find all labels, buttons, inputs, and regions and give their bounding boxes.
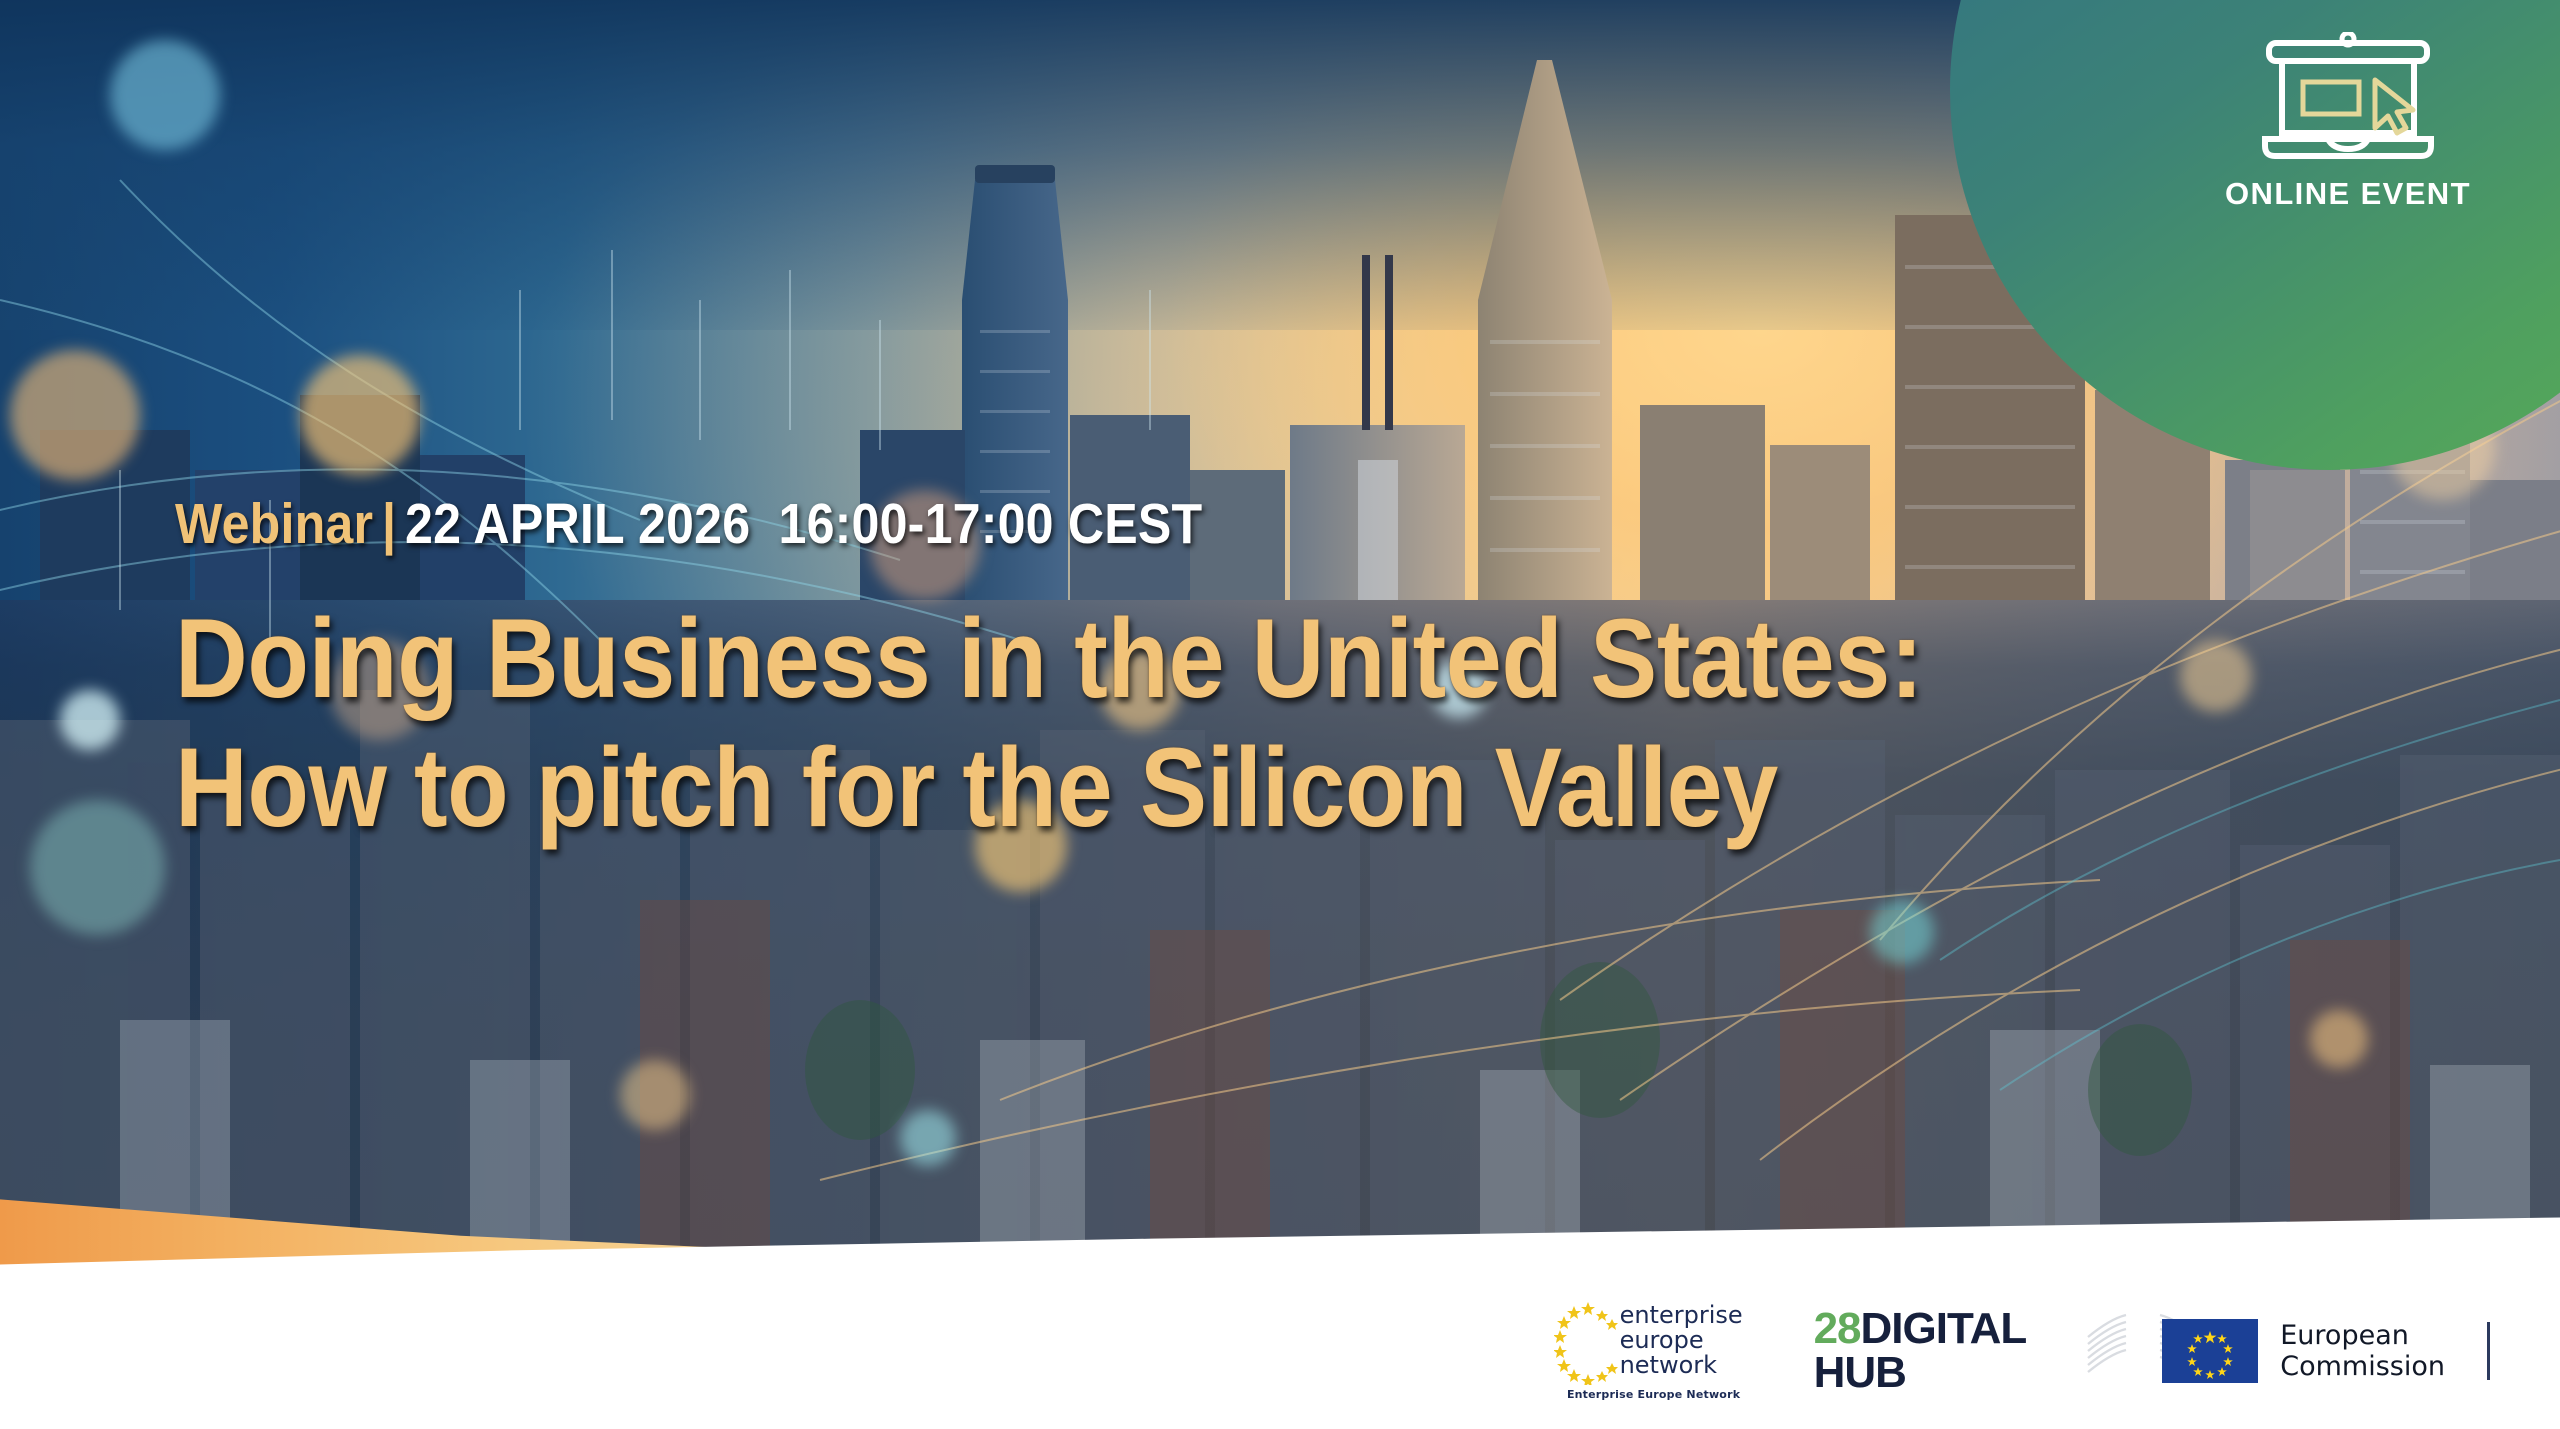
event-time: 16:00-17:00 CEST bbox=[779, 492, 1203, 556]
een-wordmark: enterprise europe network bbox=[1620, 1303, 1743, 1378]
event-title-line-1: Doing Business in the United States: bbox=[175, 600, 2137, 718]
event-type: Webinar bbox=[175, 492, 373, 556]
bokeh-dot bbox=[900, 1110, 956, 1166]
bokeh-dot bbox=[620, 1060, 690, 1130]
online-event-label: ONLINE EVENT bbox=[2225, 176, 2471, 212]
ec-line-2: Commission bbox=[2280, 1351, 2445, 1382]
hub-number: 28 bbox=[1814, 1304, 1861, 1353]
bokeh-dot bbox=[10, 350, 140, 480]
event-title-line-2: How to pitch for the Silicon Valley bbox=[175, 729, 2137, 847]
online-event-badge-content: ONLINE EVENT bbox=[2198, 32, 2498, 212]
hub-row-2: HUB bbox=[1814, 1351, 1906, 1395]
hub-word-digital: DIGITAL bbox=[1861, 1304, 2027, 1353]
bokeh-dot bbox=[2310, 1010, 2368, 1068]
een-mark: enterprise europe network bbox=[1554, 1301, 1754, 1385]
hub-row-1: 28DIGITAL bbox=[1814, 1307, 2027, 1351]
hub-word-hub: HUB bbox=[1814, 1348, 1906, 1397]
bokeh-dot bbox=[60, 690, 120, 750]
bokeh-dot bbox=[300, 355, 420, 475]
logo-28digital-hub: 28DIGITAL HUB bbox=[1814, 1307, 2027, 1395]
bokeh-dot bbox=[1870, 900, 1934, 964]
kicker-separator: | bbox=[382, 492, 396, 556]
een-caption: Enterprise Europe Network bbox=[1567, 1388, 1740, 1401]
event-date: 22 APRIL 2026 bbox=[405, 492, 750, 556]
een-line-1: enterprise bbox=[1620, 1303, 1743, 1328]
ec-divider bbox=[2487, 1322, 2490, 1380]
ec-wordmark: European Commission bbox=[2280, 1320, 2445, 1382]
logo-enterprise-europe-network: enterprise europe network Enterprise Eur… bbox=[1554, 1301, 1754, 1401]
een-stars-arc-icon bbox=[1554, 1301, 1620, 1385]
logo-european-commission: European Commission bbox=[2086, 1313, 2490, 1389]
event-kicker: Webinar|22 APRIL 2026 16:00-17:00 CEST bbox=[175, 495, 2093, 555]
een-line-2: europe bbox=[1620, 1328, 1743, 1353]
ec-line-1: European bbox=[2280, 1320, 2445, 1351]
een-line-3: network bbox=[1620, 1353, 1743, 1378]
bokeh-dot bbox=[30, 800, 165, 935]
presentation-screen-cursor-icon bbox=[2255, 32, 2441, 162]
event-banner: ONLINE EVENT Webinar|22 APRIL 2026 16:00… bbox=[0, 0, 2560, 1429]
logo-strip: enterprise europe network Enterprise Eur… bbox=[1554, 1291, 2490, 1411]
event-copy-block: Webinar|22 APRIL 2026 16:00-17:00 CEST D… bbox=[175, 495, 2355, 847]
bokeh-dot bbox=[110, 40, 220, 150]
eu-flag-icon bbox=[2162, 1319, 2258, 1383]
